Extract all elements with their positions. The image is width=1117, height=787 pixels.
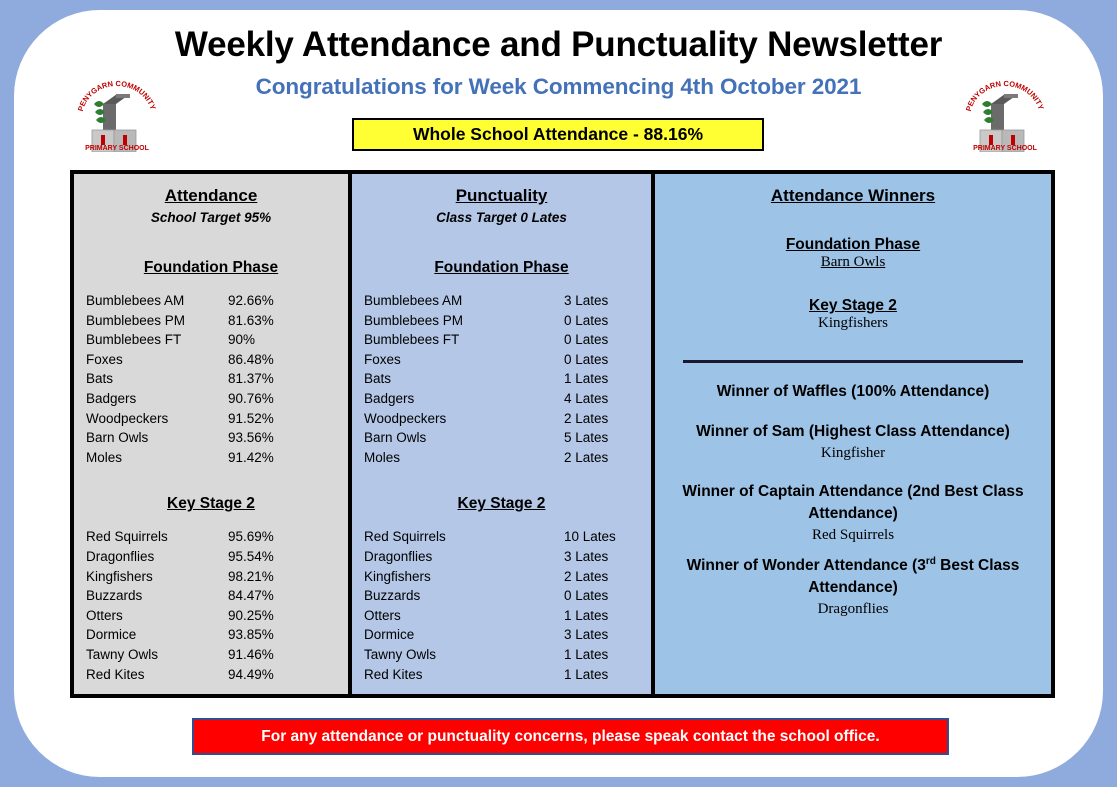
table-row: Kingfishers 2 Lates <box>364 567 651 587</box>
class-name: Tawny Owls <box>86 645 228 665</box>
class-value: 93.85% <box>228 625 318 645</box>
attendance-title: Attendance <box>74 186 348 206</box>
table-row: Tawny Owls 1 Lates <box>364 645 651 665</box>
class-value: 0 Lates <box>564 586 651 606</box>
punctuality-ks2-heading: Key Stage 2 <box>352 495 651 513</box>
class-value: 0 Lates <box>564 350 651 370</box>
winners-title: Attendance Winners <box>655 186 1051 206</box>
class-value: 1 Lates <box>564 606 651 626</box>
class-name: Moles <box>364 448 564 468</box>
table-row: Bumblebees PM 81.63% <box>86 311 348 331</box>
table-row: Buzzards 84.47% <box>86 586 348 606</box>
class-name: Otters <box>86 606 228 626</box>
class-value: 98.21% <box>228 567 318 587</box>
class-name: Otters <box>364 606 564 626</box>
class-name: Bumblebees AM <box>86 291 228 311</box>
contact-notice-banner: For any attendance or punctuality concer… <box>192 718 949 755</box>
class-name: Dormice <box>364 625 564 645</box>
class-value: 95.54% <box>228 547 318 567</box>
class-name: Barn Owls <box>86 428 228 448</box>
class-value: 91.52% <box>228 409 318 429</box>
class-name: Bats <box>86 369 228 389</box>
class-value: 91.42% <box>228 448 318 468</box>
winner-key-stage-2: Key Stage 2 Kingfishers <box>655 297 1051 332</box>
award-captain-attendance: Winner of Captain Attendance (2nd Best C… <box>655 481 1051 545</box>
class-value: 94.49% <box>228 665 318 685</box>
table-row: Bumblebees AM 3 Lates <box>364 291 651 311</box>
award-label: Winner of Wonder Attendance (3rd Best Cl… <box>671 551 1035 599</box>
class-name: Woodpeckers <box>364 409 564 429</box>
section-divider <box>683 360 1023 363</box>
class-name: Badgers <box>364 389 564 409</box>
table-row: Dragonflies 95.54% <box>86 547 348 567</box>
header: Weekly Attendance and Punctuality Newsle… <box>0 0 1117 165</box>
class-name: Moles <box>86 448 228 468</box>
class-name: Bumblebees FT <box>364 330 564 350</box>
table-row: Moles 91.42% <box>86 448 348 468</box>
class-name: Red Kites <box>364 665 564 685</box>
page-subtitle: Congratulations for Week Commencing 4th … <box>0 74 1117 100</box>
class-name: Kingfishers <box>86 567 228 587</box>
class-name: Red Squirrels <box>364 527 564 547</box>
table-row: Foxes 86.48% <box>86 350 348 370</box>
punctuality-title: Punctuality <box>352 186 651 206</box>
table-row: Otters 90.25% <box>86 606 348 626</box>
award-label: Winner of Sam (Highest Class Attendance) <box>671 421 1035 443</box>
class-name: Kingfishers <box>364 567 564 587</box>
class-value: 10 Lates <box>564 527 651 547</box>
class-name: Woodpeckers <box>86 409 228 429</box>
class-value: 81.37% <box>228 369 318 389</box>
whole-school-attendance-banner: Whole School Attendance - 88.16% <box>352 118 764 151</box>
punctuality-target: Class Target 0 Lates <box>352 210 651 225</box>
class-value: 2 Lates <box>564 567 651 587</box>
table-row: Bats 81.37% <box>86 369 348 389</box>
class-name: Foxes <box>86 350 228 370</box>
table-row: Bumblebees FT 0 Lates <box>364 330 651 350</box>
class-name: Red Kites <box>86 665 228 685</box>
svg-text:PRIMARY SCHOOL: PRIMARY SCHOOL <box>85 145 150 152</box>
winner-ks2-class: Kingfishers <box>655 315 1051 332</box>
award-winner: Red Squirrels <box>671 525 1035 545</box>
table-row: Kingfishers 98.21% <box>86 567 348 587</box>
award-label: Winner of Waffles (100% Attendance) <box>671 381 1035 403</box>
class-value: 5 Lates <box>564 428 651 448</box>
class-value: 91.46% <box>228 645 318 665</box>
attendance-ks2-rows: Red Squirrels 95.69% Dragonflies 95.54% … <box>74 527 348 684</box>
award-label: Winner of Captain Attendance (2nd Best C… <box>671 481 1035 525</box>
winner-foundation-heading: Foundation Phase <box>655 236 1051 254</box>
class-value: 90% <box>228 330 318 350</box>
school-logo-left: PENYGARN COMMUNITY PRIMARY SCHOOL <box>72 74 162 152</box>
award-label-pre: Winner of Wonder Attendance (3 <box>687 557 926 574</box>
class-value: 1 Lates <box>564 645 651 665</box>
class-name: Bats <box>364 369 564 389</box>
class-name: Bumblebees PM <box>364 311 564 331</box>
class-value: 95.69% <box>228 527 318 547</box>
award-waffles: Winner of Waffles (100% Attendance) <box>655 381 1051 403</box>
class-value: 1 Lates <box>564 369 651 389</box>
table-row: Moles 2 Lates <box>364 448 651 468</box>
class-name: Bumblebees PM <box>86 311 228 331</box>
class-value: 86.48% <box>228 350 318 370</box>
class-name: Barn Owls <box>364 428 564 448</box>
class-name: Dragonflies <box>364 547 564 567</box>
winner-foundation-phase: Foundation Phase Barn Owls <box>655 236 1051 271</box>
table-row: Bats 1 Lates <box>364 369 651 389</box>
class-value: 3 Lates <box>564 625 651 645</box>
table-row: Woodpeckers 91.52% <box>86 409 348 429</box>
winner-foundation-class: Barn Owls <box>655 254 1051 271</box>
class-value: 0 Lates <box>564 311 651 331</box>
punctuality-column: Punctuality Class Target 0 Lates Foundat… <box>352 174 655 694</box>
class-value: 3 Lates <box>564 291 651 311</box>
table-row: Dormice 3 Lates <box>364 625 651 645</box>
school-logo-right: PENYGARN COMMUNITY PRIMARY SCHOOL <box>960 74 1050 152</box>
table-row: Barn Owls 5 Lates <box>364 428 651 448</box>
table-row: Red Squirrels 10 Lates <box>364 527 651 547</box>
table-row: Buzzards 0 Lates <box>364 586 651 606</box>
class-name: Tawny Owls <box>364 645 564 665</box>
attendance-ks2-heading: Key Stage 2 <box>74 495 348 513</box>
attendance-winners-column: Attendance Winners Foundation Phase Barn… <box>655 174 1051 694</box>
class-value: 1 Lates <box>564 665 651 685</box>
winner-ks2-heading: Key Stage 2 <box>655 297 1051 315</box>
class-value: 2 Lates <box>564 409 651 429</box>
table-row: Bumblebees PM 0 Lates <box>364 311 651 331</box>
class-name: Buzzards <box>86 586 228 606</box>
award-winner: Kingfisher <box>671 443 1035 463</box>
svg-text:PRIMARY SCHOOL: PRIMARY SCHOOL <box>973 145 1038 152</box>
class-value: 2 Lates <box>564 448 651 468</box>
punctuality-foundation-rows: Bumblebees AM 3 Lates Bumblebees PM 0 La… <box>352 291 651 467</box>
page-title: Weekly Attendance and Punctuality Newsle… <box>0 25 1117 65</box>
class-value: 81.63% <box>228 311 318 331</box>
class-value: 3 Lates <box>564 547 651 567</box>
table-row: Dragonflies 3 Lates <box>364 547 651 567</box>
class-name: Dragonflies <box>86 547 228 567</box>
table-row: Foxes 0 Lates <box>364 350 651 370</box>
class-value: 93.56% <box>228 428 318 448</box>
class-name: Foxes <box>364 350 564 370</box>
class-name: Dormice <box>86 625 228 645</box>
class-value: 4 Lates <box>564 389 651 409</box>
attendance-column: Attendance School Target 95% Foundation … <box>74 174 352 694</box>
class-name: Badgers <box>86 389 228 409</box>
class-value: 90.76% <box>228 389 318 409</box>
table-row: Bumblebees FT 90% <box>86 330 348 350</box>
stats-table: Attendance School Target 95% Foundation … <box>70 170 1055 698</box>
table-row: Bumblebees AM 92.66% <box>86 291 348 311</box>
table-row: Red Squirrels 95.69% <box>86 527 348 547</box>
attendance-target: School Target 95% <box>74 210 348 225</box>
class-name: Buzzards <box>364 586 564 606</box>
award-wonder-attendance: Winner of Wonder Attendance (3rd Best Cl… <box>655 551 1051 619</box>
table-row: Otters 1 Lates <box>364 606 651 626</box>
table-row: Tawny Owls 91.46% <box>86 645 348 665</box>
class-name: Bumblebees AM <box>364 291 564 311</box>
table-row: Red Kites 94.49% <box>86 665 348 685</box>
punctuality-foundation-heading: Foundation Phase <box>352 259 651 277</box>
award-sam: Winner of Sam (Highest Class Attendance)… <box>655 421 1051 463</box>
award-label-sup: rd <box>926 556 936 567</box>
punctuality-ks2-rows: Red Squirrels 10 Lates Dragonflies 3 Lat… <box>352 527 651 684</box>
class-value: 90.25% <box>228 606 318 626</box>
class-name: Red Squirrels <box>86 527 228 547</box>
award-winner: Dragonflies <box>671 599 1035 619</box>
table-row: Badgers 90.76% <box>86 389 348 409</box>
newsletter-poster: Weekly Attendance and Punctuality Newsle… <box>0 0 1117 787</box>
table-row: Woodpeckers 2 Lates <box>364 409 651 429</box>
class-value: 84.47% <box>228 586 318 606</box>
table-row: Red Kites 1 Lates <box>364 665 651 685</box>
table-row: Badgers 4 Lates <box>364 389 651 409</box>
class-value: 0 Lates <box>564 330 651 350</box>
table-row: Barn Owls 93.56% <box>86 428 348 448</box>
class-value: 92.66% <box>228 291 318 311</box>
attendance-foundation-rows: Bumblebees AM 92.66% Bumblebees PM 81.63… <box>74 291 348 467</box>
table-row: Dormice 93.85% <box>86 625 348 645</box>
class-name: Bumblebees FT <box>86 330 228 350</box>
attendance-foundation-heading: Foundation Phase <box>74 259 348 277</box>
